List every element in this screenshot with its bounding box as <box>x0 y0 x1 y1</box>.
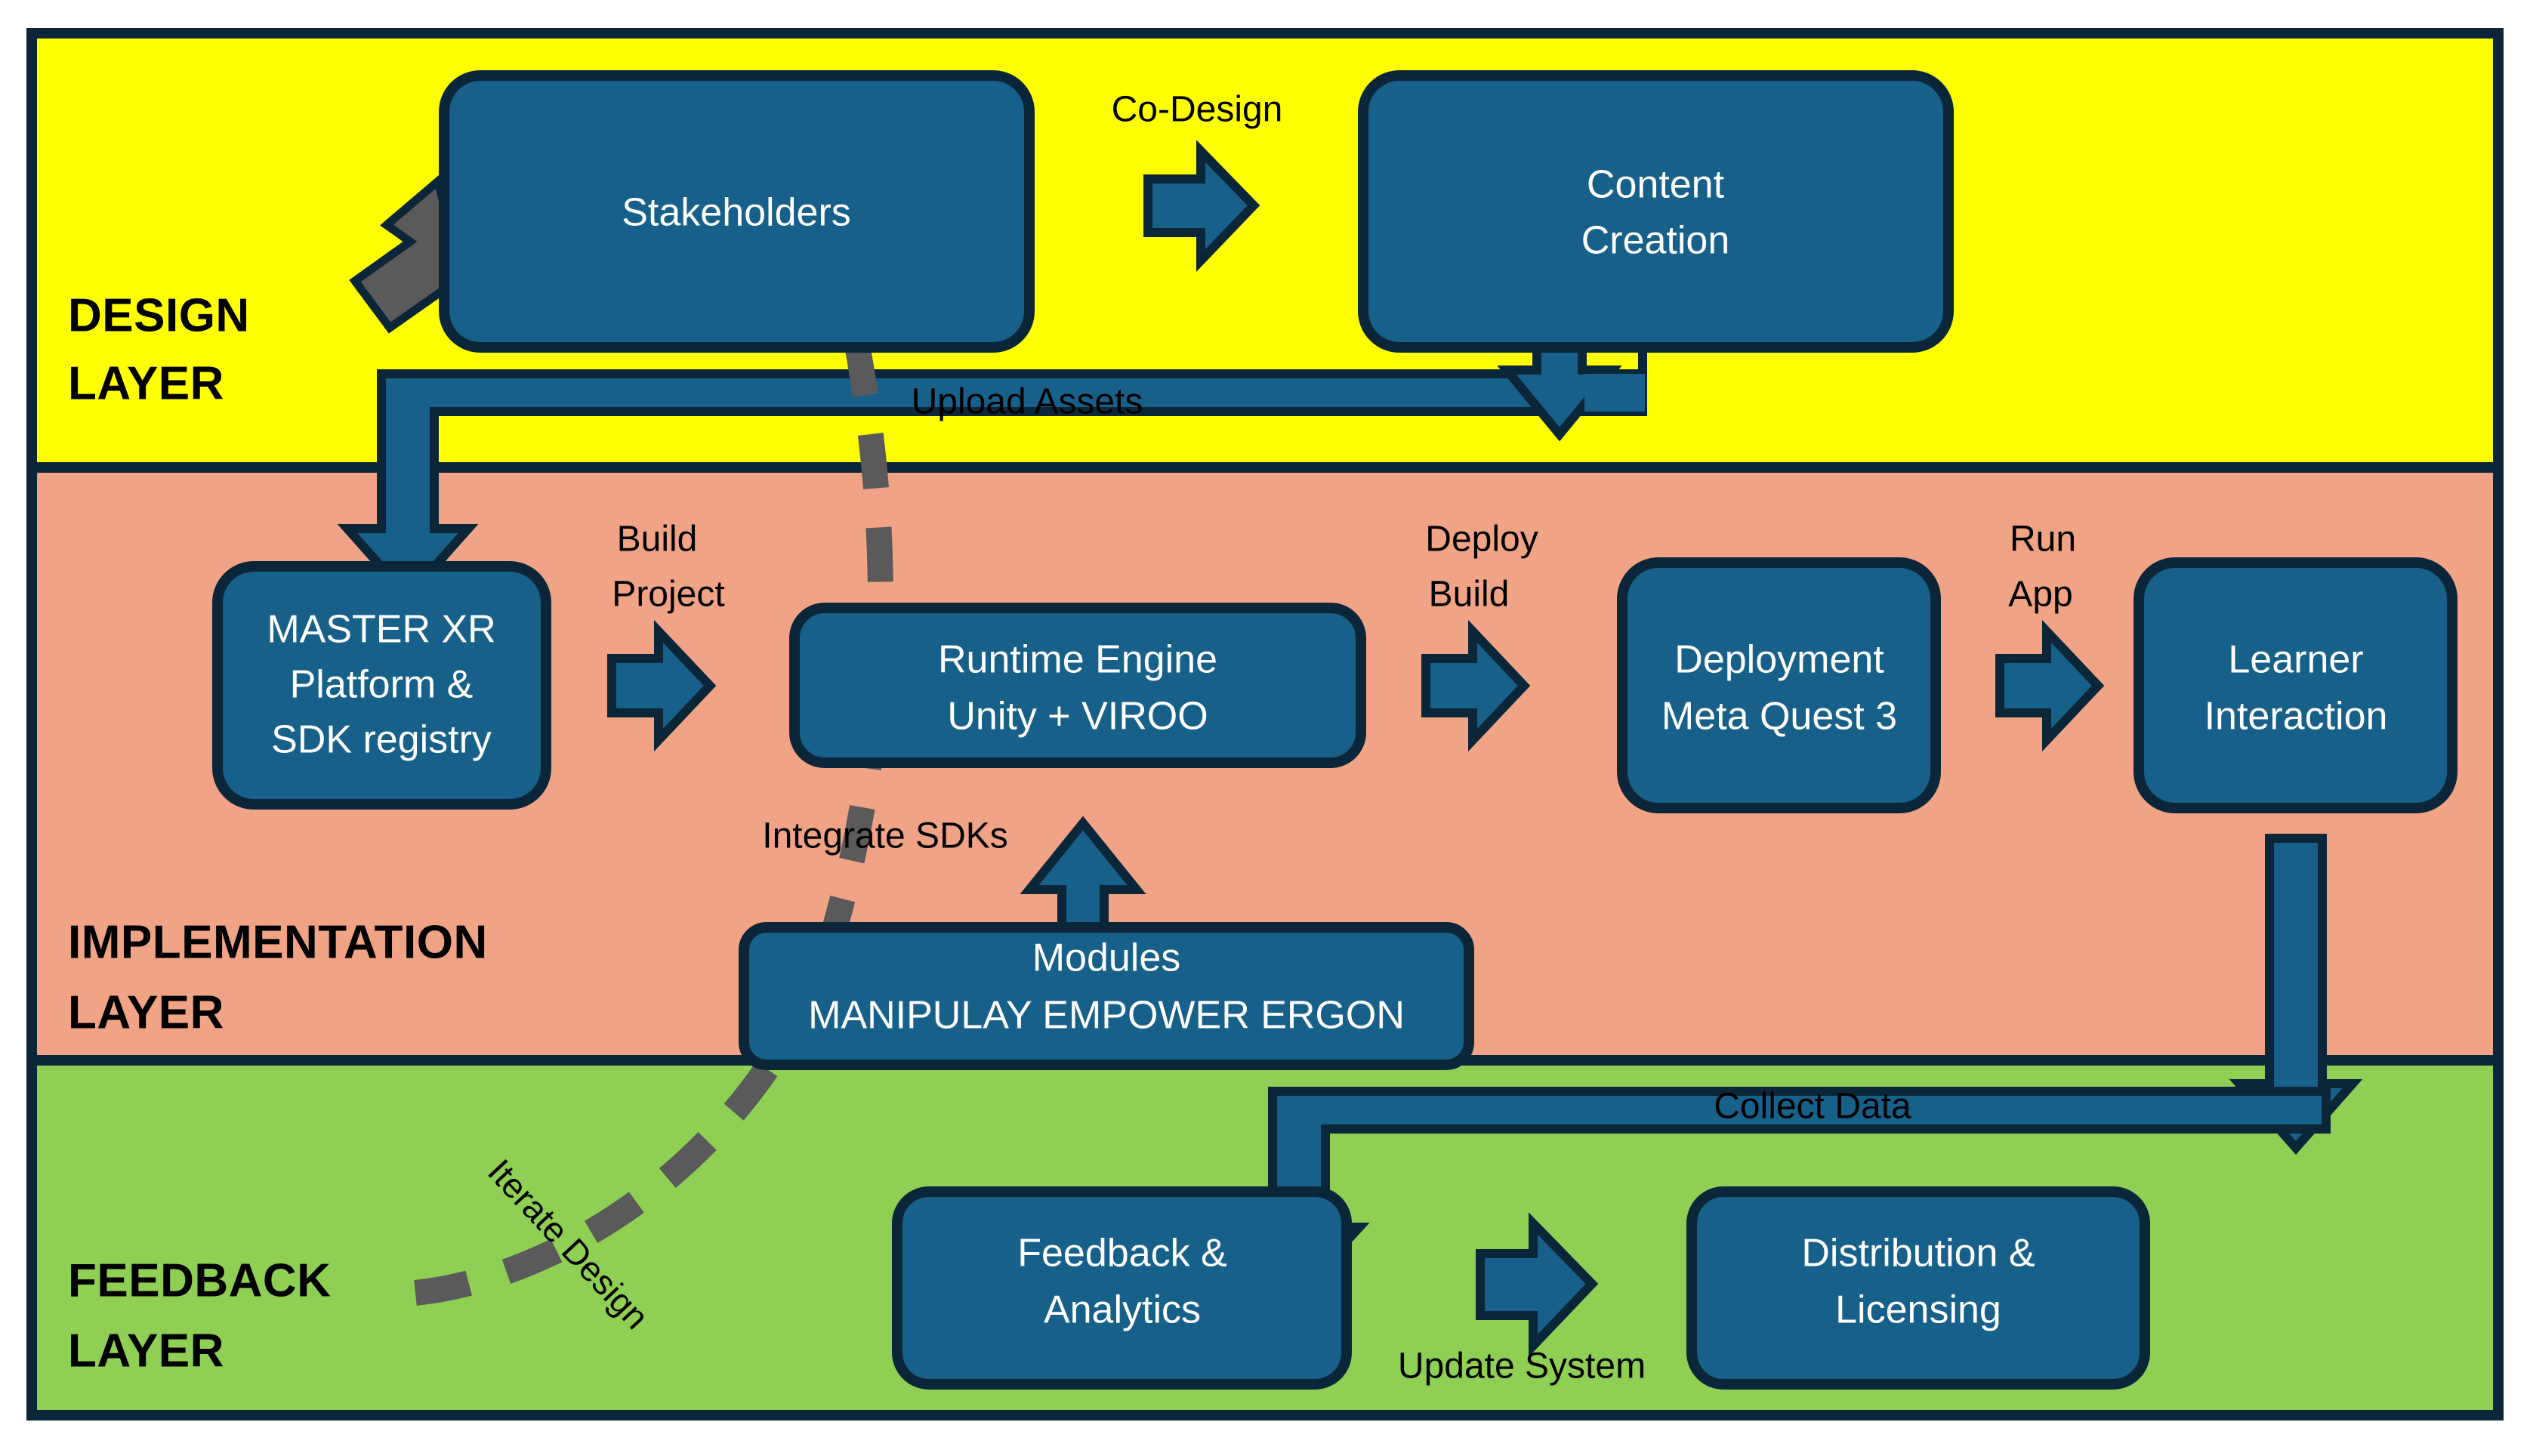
edge-label-update-system: Update System <box>1398 1346 1646 1387</box>
node-distribution-licensing-label-line2: Licensing <box>1835 1288 2001 1332</box>
layer-title-design-line2: LAYER <box>68 357 224 409</box>
node-deployment-label-line1: Deployment <box>1674 638 1884 682</box>
node-content-creation[interactable]: Content Creation <box>1363 76 1948 347</box>
diagram-canvas: Stakeholders Content Creation MASTER XR … <box>0 0 2530 1456</box>
edge-label-co-design: Co-Design <box>1112 90 1283 130</box>
edge-label-integrate-sdks: Integrate SDKs <box>762 816 1008 856</box>
edge-label-collect-data: Collect Data <box>1714 1087 1911 1127</box>
layer-title-implementation-line1: IMPLEMENTATION <box>68 916 488 968</box>
node-deployment-label-line2: Meta Quest 3 <box>1661 695 1897 739</box>
node-modules-label-line2: MANIPULAY EMPOWER ERGON <box>808 994 1405 1038</box>
edge-label-upload-assets: Upload Assets <box>912 382 1143 422</box>
node-feedback-analytics-label-line1: Feedback & <box>1017 1232 1227 1276</box>
node-stakeholders-label: Stakeholders <box>622 191 851 235</box>
node-distribution-licensing[interactable]: Distribution & Licensing <box>1692 1192 2145 1384</box>
node-runtime-engine-label-line1: Runtime Engine <box>938 638 1217 682</box>
node-runtime-engine[interactable]: Runtime Engine Unity + VIROO <box>794 608 1361 763</box>
edge-label-deploy-build-line1: Deploy <box>1425 520 1538 560</box>
layer-title-feedback-line2: LAYER <box>68 1325 224 1377</box>
edge-label-run-app-line1: Run <box>2010 520 2076 560</box>
node-stakeholders[interactable]: Stakeholders <box>444 76 1029 347</box>
workflow-diagram: Stakeholders Content Creation MASTER XR … <box>0 0 2530 1456</box>
node-distribution-licensing-label-line1: Distribution & <box>1801 1232 2035 1276</box>
layer-title-feedback-line1: FEEDBACK <box>68 1254 331 1306</box>
node-modules[interactable]: Modules MANIPULAY EMPOWER ERGON <box>744 927 1469 1065</box>
layer-title-design-line1: DESIGN <box>68 289 250 341</box>
node-content-creation-label-line1: Content <box>1587 163 1725 207</box>
node-master-xr-label-line3: SDK registry <box>271 718 492 762</box>
node-learner-interaction-label-line2: Interaction <box>2204 695 2388 739</box>
node-content-creation-label-line2: Creation <box>1581 219 1730 263</box>
node-master-xr-label-line2: Platform & <box>290 663 474 707</box>
edge-label-build-project-line2: Project <box>612 575 724 615</box>
edge-label-run-app-line2: App <box>2008 575 2072 615</box>
node-feedback-analytics[interactable]: Feedback & Analytics <box>897 1192 1347 1384</box>
node-modules-label-line1: Modules <box>1032 936 1181 980</box>
node-learner-interaction[interactable]: Learner Interaction <box>2139 563 2452 808</box>
edge-label-build-project-line1: Build <box>617 520 698 560</box>
node-learner-interaction-label-line1: Learner <box>2228 638 2363 682</box>
node-feedback-analytics-label-line2: Analytics <box>1044 1288 1201 1332</box>
node-runtime-engine-label-line2: Unity + VIROO <box>947 695 1208 739</box>
node-deployment[interactable]: Deployment Meta Quest 3 <box>1622 563 1936 808</box>
node-master-xr[interactable]: MASTER XR Platform & SDK registry <box>218 566 546 804</box>
node-master-xr-label-line1: MASTER XR <box>267 608 495 652</box>
layer-title-implementation-line2: LAYER <box>68 986 224 1038</box>
edge-label-deploy-build-line2: Build <box>1429 575 1510 615</box>
